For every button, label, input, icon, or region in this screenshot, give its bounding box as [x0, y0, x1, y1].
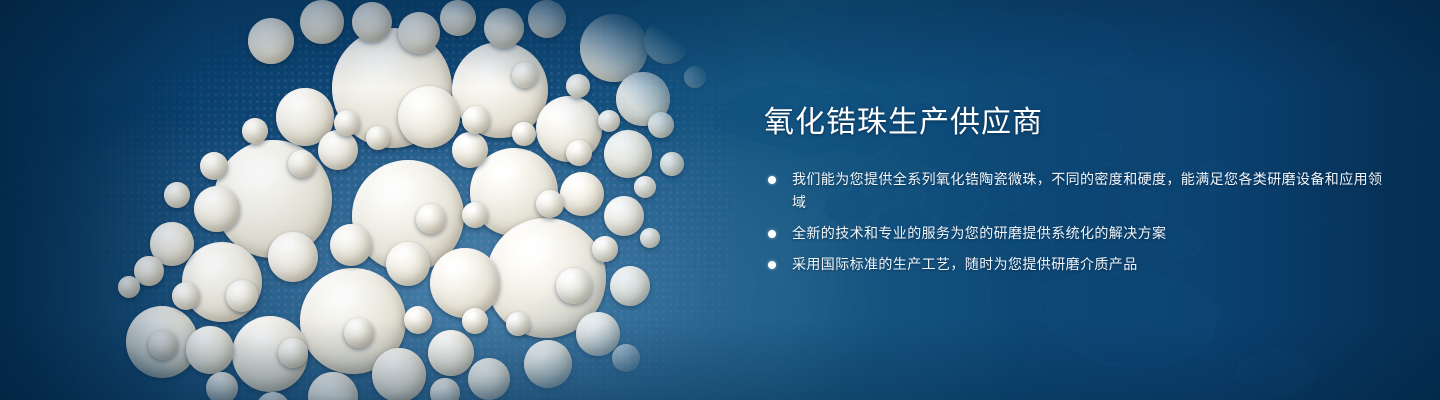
- list-item: 采用国际标准的生产工艺，随时为您提供研磨介质产品: [764, 253, 1384, 276]
- page-title: 氧化锆珠生产供应商: [764, 104, 1384, 142]
- list-item-label: 采用国际标准的生产工艺，随时为您提供研磨介质产品: [792, 256, 1138, 272]
- bullet-dot-icon: [768, 261, 776, 269]
- banner-copy-block: 氧化锆珠生产供应商 我们能为您提供全系列氧化锆陶瓷微珠，不同的密度和硬度，能满足…: [764, 104, 1384, 276]
- bullet-dot-icon: [768, 230, 776, 238]
- list-item-label: 全新的技术和专业的服务为您的研磨提供系统化的解决方案: [792, 225, 1166, 241]
- list-item: 全新的技术和专业的服务为您的研磨提供系统化的解决方案: [764, 222, 1384, 245]
- feature-bullet-list: 我们能为您提供全系列氧化锆陶瓷微珠，不同的密度和硬度，能满足您各类研磨设备和应用…: [764, 168, 1384, 276]
- bullet-dot-icon: [768, 176, 776, 184]
- list-item: 我们能为您提供全系列氧化锆陶瓷微珠，不同的密度和硬度，能满足您各类研磨设备和应用…: [764, 168, 1384, 214]
- list-item-label: 我们能为您提供全系列氧化锆陶瓷微珠，不同的密度和硬度，能满足您各类研磨设备和应用…: [792, 171, 1382, 210]
- hero-banner: 氧化锆珠生产供应商 我们能为您提供全系列氧化锆陶瓷微珠，不同的密度和硬度，能满足…: [0, 0, 1440, 400]
